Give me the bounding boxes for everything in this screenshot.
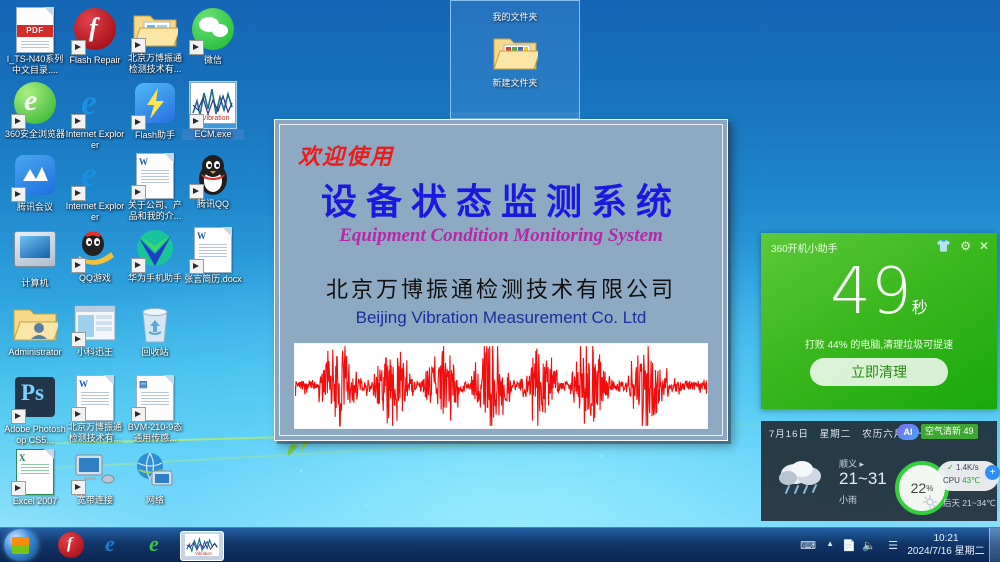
flash-assistant-icon[interactable]	[132, 83, 178, 129]
desktop-icon-label: BVM-210-9态通用传感...	[124, 422, 186, 444]
vibration-waveform-chart	[294, 343, 708, 429]
weather-date: 7月16日	[769, 429, 809, 440]
welcome-text: 欢迎使用	[298, 139, 394, 171]
desktop-icon[interactable]: 腾讯QQ	[182, 152, 244, 210]
internet-explorer-icon[interactable]: e	[72, 82, 118, 128]
rain-cloud-icon	[775, 457, 831, 497]
air-quality-badge: 空气清新 49	[921, 424, 978, 439]
broadband-connection-icon[interactable]	[72, 448, 118, 494]
word-document-icon[interactable]: W	[132, 153, 178, 199]
desktop-icon[interactable]: 腾讯会议	[4, 152, 66, 213]
desktop-icon[interactable]: 网络	[124, 448, 186, 506]
folder-icon[interactable]	[492, 33, 538, 73]
desktop-icon[interactable]: VibrationECM.exe	[182, 80, 244, 140]
ai-badge[interactable]: AI	[897, 424, 919, 440]
gear-icon[interactable]: ⚙	[960, 239, 971, 253]
shortcut-arrow-icon	[131, 258, 146, 273]
internet-explorer-taskbar-button[interactable]: e	[94, 531, 136, 559]
360-browser-icon[interactable]: e	[12, 82, 58, 128]
desktop-icon-label: 回收站	[124, 347, 186, 358]
shortcut-arrow-icon	[11, 187, 26, 202]
desktop-icon-label: Adobe Photoshop CS5...	[4, 424, 66, 446]
weather-weekday: 星期二	[820, 429, 852, 440]
desktop-icon-label: Administrator	[4, 347, 66, 358]
desktop-icon-label: Excel 2007	[4, 496, 66, 507]
folder-label: 新建文件夹	[451, 76, 579, 89]
add-widget-button[interactable]: +	[985, 465, 1000, 480]
desktop-icon[interactable]: 回收站	[124, 300, 186, 358]
photoshop-icon[interactable]: Ps	[12, 377, 58, 423]
desktop-icon-label: QQ游戏	[64, 273, 126, 284]
network-speed: ✓ 1.4K/s	[947, 463, 979, 472]
computer-icon[interactable]	[12, 231, 58, 277]
shortcut-arrow-icon	[189, 259, 204, 274]
folder-icon[interactable]	[132, 6, 178, 52]
desktop-icon-label: 关于公司、产品和我的介...	[124, 200, 186, 222]
desktop-icon[interactable]: 北京万博振通检测技术有...	[124, 6, 186, 75]
desktop-icon-label: Internet Explorer	[64, 129, 126, 151]
svg-text:Vibration: Vibration	[202, 115, 230, 122]
shortcut-arrow-icon	[71, 332, 86, 347]
shortcut-arrow-icon	[131, 407, 146, 422]
wallpaper-sparkle	[300, 470, 302, 472]
splash-title-english: Equipment Condition Monitoring System	[280, 225, 722, 247]
desktop-icon[interactable]: W北京万博振通检测技术有...	[64, 374, 126, 444]
window-app-icon[interactable]	[72, 300, 118, 346]
sun-icon	[923, 495, 937, 509]
desktop-icon[interactable]: eInternet Explorer	[64, 152, 126, 223]
keyboard-icon[interactable]: ⌨	[800, 539, 816, 552]
desktop-icon[interactable]: fFlash Repair	[64, 6, 126, 66]
shortcut-arrow-icon	[71, 40, 86, 55]
desktop-icon-label: 华为手机助手	[124, 273, 186, 284]
ecm-splash-window[interactable]: 欢迎使用 设备状态监测系统 Equipment Condition Monito…	[274, 119, 728, 441]
shortcut-arrow-icon	[131, 38, 146, 53]
ecm-taskbar-button[interactable]: Vibration	[180, 531, 224, 561]
splash-inner-panel: 欢迎使用 设备状态监测系统 Equipment Condition Monito…	[279, 124, 723, 436]
shortcut-arrow-icon	[11, 114, 26, 129]
desktop-icon-label: 计算机	[4, 278, 66, 289]
desktop-icon-label: 网络	[124, 495, 186, 506]
desktop-icon-label: Flash助手	[124, 130, 186, 141]
weather-forecast: 后天 21~34℃	[943, 497, 996, 509]
shirt-icon[interactable]: 👕	[936, 239, 951, 253]
text-document-icon[interactable]: ▤	[132, 375, 178, 421]
cpu-temperature: CPU 43℃	[943, 476, 980, 485]
desktop-icon[interactable]: ▤BVM-210-9态通用传感...	[124, 374, 186, 444]
taskbar[interactable]: f e e Vibration ⌨ ▲ 📄 🔈 ☰ 10:21 2024/7/1…	[0, 527, 1000, 562]
desktop-icon[interactable]: Flash助手	[124, 80, 186, 141]
weather-condition: 小雨	[839, 493, 857, 506]
wallpaper-sparkle	[365, 505, 367, 507]
svg-text:Vibration: Vibration	[195, 551, 212, 556]
network-icon[interactable]	[132, 448, 178, 494]
wechat-icon[interactable]	[190, 8, 236, 54]
flash-taskbar-button[interactable]: f	[50, 531, 92, 559]
tencent-meeting-icon[interactable]	[12, 155, 58, 201]
network-icon[interactable]: ☰	[888, 539, 898, 552]
shortcut-arrow-icon	[11, 409, 26, 424]
company-name-english: Beijing Vibration Measurement Co. Ltd	[280, 308, 722, 328]
desktop-icon-label: 北京万博振通检测技术有...	[64, 422, 126, 444]
shortcut-arrow-icon	[11, 481, 26, 496]
shortcut-arrow-icon	[189, 40, 204, 55]
desktop-icon-label: Flash Repair	[64, 55, 126, 66]
flash-repair-icon[interactable]: f	[72, 8, 118, 54]
desktop-icon-label: 宽带连接	[64, 495, 126, 506]
shortcut-arrow-icon	[131, 185, 146, 200]
show-hidden-icons-icon[interactable]: ▲	[826, 539, 834, 548]
volume-icon[interactable]: 🔈	[862, 539, 876, 552]
desktop-icon-label: 微信	[182, 55, 244, 66]
user-folder-icon	[12, 304, 58, 344]
desktop-icon[interactable]: W关于公司、产品和我的介...	[124, 152, 186, 222]
huawei-assistant-icon[interactable]	[132, 226, 178, 272]
show-desktop-button[interactable]	[989, 528, 1000, 562]
shortcut-arrow-icon	[131, 115, 146, 130]
word-document-icon[interactable]: W	[72, 375, 118, 421]
desktop-icon[interactable]: 微信	[182, 6, 244, 66]
network-icon	[134, 451, 176, 491]
humidity-value: 22	[911, 480, 927, 496]
boot-time-subtitle: 打败 44% 的电脑,清理垃圾可提速	[761, 336, 997, 351]
shortcut-arrow-icon	[71, 480, 86, 495]
recycle-bin-icon[interactable]	[132, 300, 178, 346]
qq-games-icon[interactable]	[72, 226, 118, 272]
desktop-icon[interactable]: 华为手机助手	[124, 226, 186, 284]
ecm-app-icon[interactable]: Vibration	[190, 82, 236, 128]
desktop-icon-label: 小科迅王	[64, 347, 126, 358]
widget-title: 360开机小助手	[771, 240, 838, 255]
taskbar-clock[interactable]: 10:21 2024/7/16 星期二	[906, 532, 986, 558]
desktop-icon-label: Internet Explorer	[64, 201, 126, 223]
boot-time-number: 49	[830, 255, 911, 329]
humidity-unit: %	[926, 484, 933, 493]
pdf-document-icon: PDF	[16, 7, 54, 53]
shortcut-arrow-icon	[189, 114, 204, 129]
recycle-bin-icon	[135, 302, 175, 344]
weather-widget[interactable]: 7月16日 星期二 农历六月十一 AI 空气清新 49 顺义 ▸ 21~31 小…	[761, 421, 997, 521]
company-name-chinese: 北京万博振通检测技术有限公司	[280, 272, 722, 304]
action-center-icon[interactable]: 📄	[842, 539, 856, 552]
shortcut-arrow-icon	[71, 258, 86, 273]
boot-time-unit: 秒	[912, 298, 928, 317]
clock-date: 2024/7/16 星期二	[906, 545, 986, 558]
computer-icon	[14, 231, 56, 267]
desktop-icon[interactable]: eInternet Explorer	[64, 80, 126, 151]
desktop-folder-pane[interactable]: 我的文件夹 新建文件夹	[450, 0, 580, 119]
desktop-icon-label: 北京万博振通检测技术有...	[124, 53, 186, 75]
clock-time: 10:21	[906, 532, 986, 545]
desktop-icon-label: I_TS-N40系列中文目录....	[4, 54, 66, 76]
start-button[interactable]	[4, 529, 38, 561]
qq-penguin-icon[interactable]	[190, 152, 236, 198]
boot-time-value: 49秒	[761, 255, 997, 345]
desktop-icon-label: 张言简历.docx	[182, 274, 244, 285]
shortcut-arrow-icon	[71, 114, 86, 129]
desktop-icon-label: 360安全浏览器	[4, 129, 66, 140]
chevron-right-icon: ▸	[860, 459, 865, 469]
desktop-icon[interactable]: 小科迅王	[64, 300, 126, 358]
excel-icon[interactable]: X	[12, 449, 58, 495]
desktop-icon-label: 腾讯QQ	[182, 199, 244, 210]
word-document-icon[interactable]: W	[190, 227, 236, 273]
weather-temp-range: 21~31	[839, 469, 887, 489]
wallpaper-sparkle	[600, 455, 602, 457]
clean-now-button[interactable]: 立即清理	[810, 358, 948, 386]
desktop-icon[interactable]: W张言简历.docx	[182, 226, 244, 285]
desktop-icon[interactable]: XExcel 2007	[4, 448, 66, 507]
desktop-icon[interactable]: e360安全浏览器	[4, 80, 66, 140]
desktop-icon-label: ECM.exe	[182, 129, 244, 140]
shortcut-arrow-icon	[71, 186, 86, 201]
close-icon[interactable]: ✕	[979, 239, 989, 253]
desktop-icon[interactable]: 计算机	[4, 226, 66, 289]
shortcut-arrow-icon	[189, 184, 204, 199]
splash-title-chinese: 设备状态监测系统	[280, 173, 722, 225]
user-folder-icon[interactable]	[12, 300, 58, 346]
shortcut-arrow-icon	[71, 407, 86, 422]
360-boot-assistant-widget[interactable]: 360开机小助手 👕 ⚙ ✕ 49秒 打败 44% 的电脑,清理垃圾可提速 立即…	[761, 233, 997, 409]
desktop-icon-label: 腾讯会议	[4, 202, 66, 213]
desktop-icon[interactable]: PDFI_TS-N40系列中文目录....	[4, 6, 66, 76]
desktop-icon[interactable]: QQ游戏	[64, 226, 126, 284]
internet-explorer-icon[interactable]: e	[72, 154, 118, 200]
desktop-folder-pane-header: 我的文件夹	[451, 10, 579, 23]
desktop-icon[interactable]: Administrator	[4, 300, 66, 358]
pdf-document-icon[interactable]: PDF	[12, 7, 58, 53]
desktop-icon[interactable]: 宽带连接	[64, 448, 126, 506]
360-browser-taskbar-button[interactable]: e	[138, 531, 180, 559]
desktop-icon[interactable]: PsAdobe Photoshop CS5...	[4, 374, 66, 446]
